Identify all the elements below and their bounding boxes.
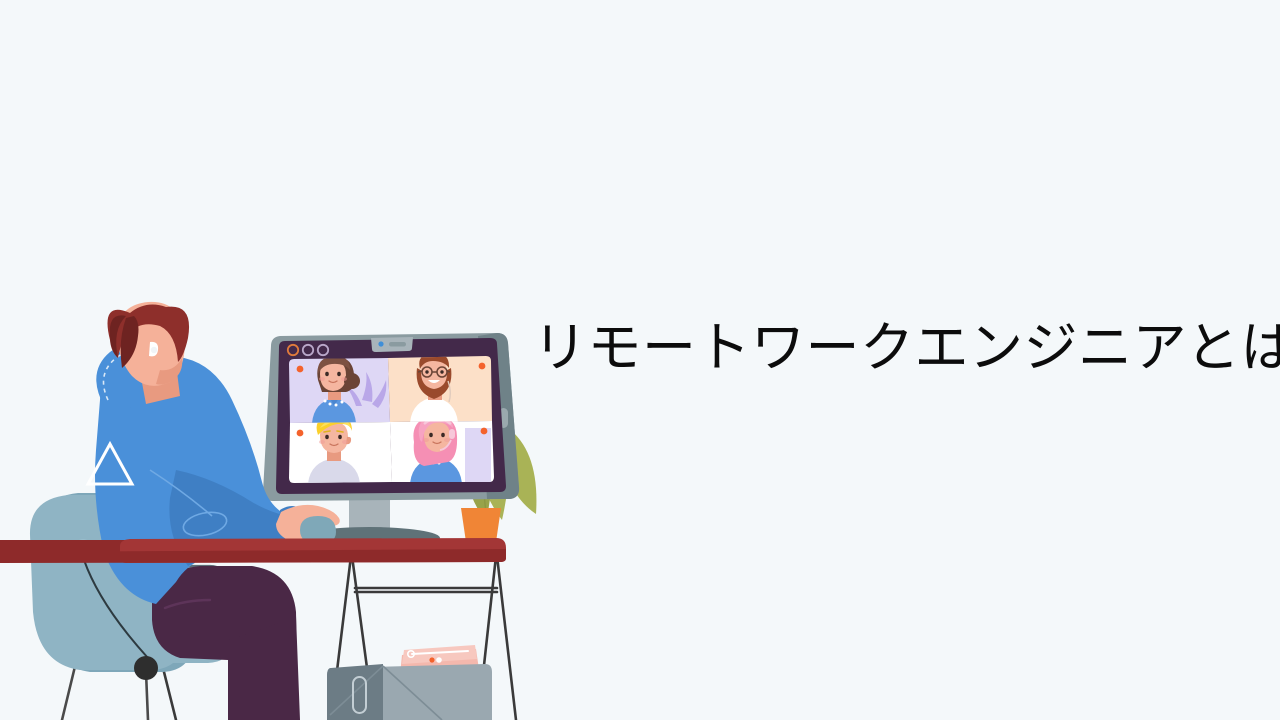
webcam-lens <box>389 342 406 347</box>
participant-tile-top-left <box>285 355 395 427</box>
slide-canvas: リモートワークエンジニアとは <box>0 0 1280 720</box>
case-indicator-dot <box>429 657 434 662</box>
rec-dot-bottom-right <box>481 428 488 435</box>
participant-face <box>421 359 447 389</box>
participant-tile-top-right <box>386 350 496 425</box>
participant-hair-bun <box>344 373 360 389</box>
rec-dot-top-left <box>297 366 304 373</box>
tile-panel-decoration <box>465 428 491 482</box>
webcam-led <box>378 341 383 346</box>
participant-tile-bottom-left <box>285 415 395 488</box>
case-indicator-dot-light <box>436 657 442 663</box>
webcam-notch <box>371 337 413 352</box>
chair-caster <box>134 656 158 680</box>
person-earbud-tip <box>151 347 157 353</box>
page-title: リモートワークエンジニアとは <box>533 308 1280 388</box>
desk <box>0 538 506 563</box>
participant-tile-bottom-right <box>386 415 496 488</box>
rec-dot-top-right <box>479 363 486 370</box>
rec-dot-bottom-left <box>297 430 304 437</box>
video-call-grid <box>285 350 496 488</box>
plant-pot <box>461 508 501 542</box>
headset-earcup <box>449 429 455 439</box>
